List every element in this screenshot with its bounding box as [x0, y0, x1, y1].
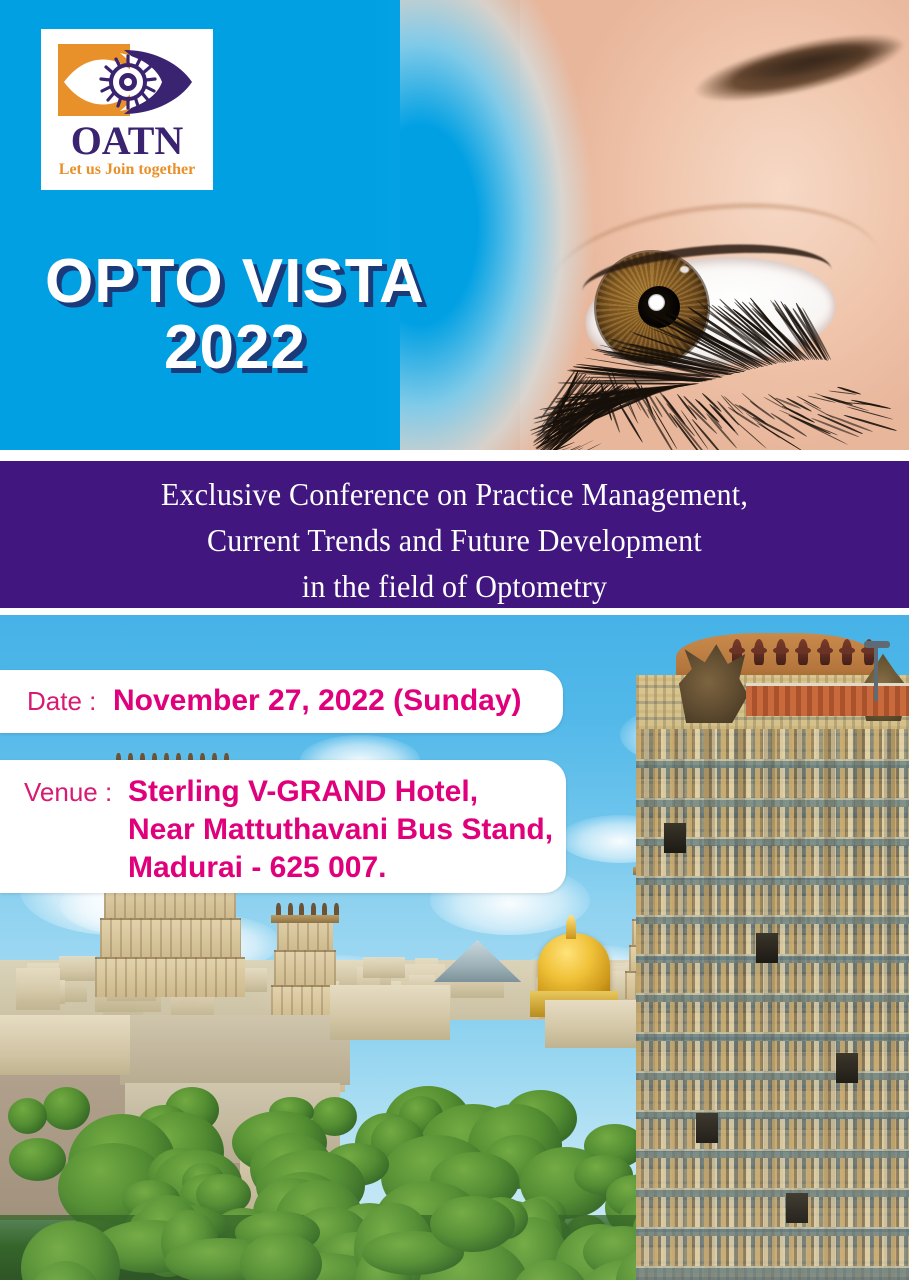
carved-column [674, 729, 685, 1280]
tree-canopy [9, 1138, 66, 1181]
logo-acronym: OATN [41, 121, 213, 161]
main-gopuram [636, 633, 909, 1280]
golden-vimana [538, 933, 610, 999]
distant-building [363, 957, 405, 978]
shrine-niche [836, 1053, 858, 1083]
tree-canopy [8, 1098, 47, 1134]
banner-line-1: Exclusive Conference on Practice Managem… [27, 471, 881, 517]
shrine-niche [756, 933, 778, 963]
carved-column [764, 729, 775, 1280]
compound-wall [120, 1015, 350, 1085]
shrine-niche [786, 1193, 808, 1223]
carved-column [734, 729, 745, 1280]
subtitle-banner: Exclusive Conference on Practice Managem… [0, 461, 909, 608]
carved-column [884, 729, 895, 1280]
gopuram-tier [100, 918, 241, 958]
banner-line-2: Current Trends and Future Development [27, 517, 881, 563]
carved-column [854, 729, 865, 1280]
banner-line-3: in the field of Optometry [27, 563, 881, 609]
title-line-2: 2022 [0, 315, 425, 381]
venue-line-2: Near Mattuthavani Bus Stand, [128, 811, 566, 849]
venue-line-1: Sterling V-GRAND Hotel, [128, 773, 478, 811]
venue-box: Venue : Sterling V-GRAND Hotel, Near Mat… [0, 760, 566, 893]
distant-building [59, 956, 96, 981]
gopuram-tier [95, 957, 245, 997]
poster-header: OATN Let us Join together OPTO VISTA 202… [0, 0, 909, 450]
tree-canopy-front [430, 1196, 515, 1252]
blue-photo-fade [400, 0, 909, 450]
compound-block [0, 1015, 130, 1075]
gopuram-finial [820, 639, 830, 665]
title-line-1: OPTO VISTA [0, 249, 470, 315]
vimana-finial [566, 915, 576, 939]
gopuram-finial [776, 639, 786, 665]
venue-line-3: Madurai - 625 007. [128, 849, 566, 887]
venue-label: Venue : [24, 777, 128, 808]
date-label: Date : [27, 686, 113, 717]
poster-title: OPTO VISTA 2022 [0, 249, 470, 381]
mid-building [330, 985, 450, 1040]
gopuram-finial [798, 639, 808, 665]
gopuram-ridge [271, 915, 338, 923]
gopuram-finial [842, 639, 852, 665]
shrine-niche [696, 1113, 718, 1143]
eye-photo [400, 0, 909, 450]
logo-eye-svg [58, 38, 196, 122]
eye-sunburst-icon [58, 38, 196, 122]
lamp-head [864, 641, 890, 648]
gopuram-tier [274, 950, 336, 987]
lamp-post [874, 643, 878, 701]
carved-column [644, 729, 655, 1280]
carved-column [704, 729, 715, 1280]
date-value: November 27, 2022 (Sunday) [113, 684, 522, 718]
gopuram-finial [754, 639, 764, 665]
shrine-niche [664, 823, 686, 853]
oatn-logo[interactable]: OATN Let us Join together [41, 29, 213, 190]
eave-roof [746, 683, 909, 716]
distant-building [16, 968, 60, 1010]
carved-column [824, 729, 835, 1280]
logo-tagline: Let us Join together [41, 161, 213, 179]
tree-canopy [43, 1087, 90, 1130]
date-box: Date : November 27, 2022 (Sunday) [0, 670, 563, 733]
event-poster: OATN Let us Join together OPTO VISTA 202… [0, 0, 909, 1280]
